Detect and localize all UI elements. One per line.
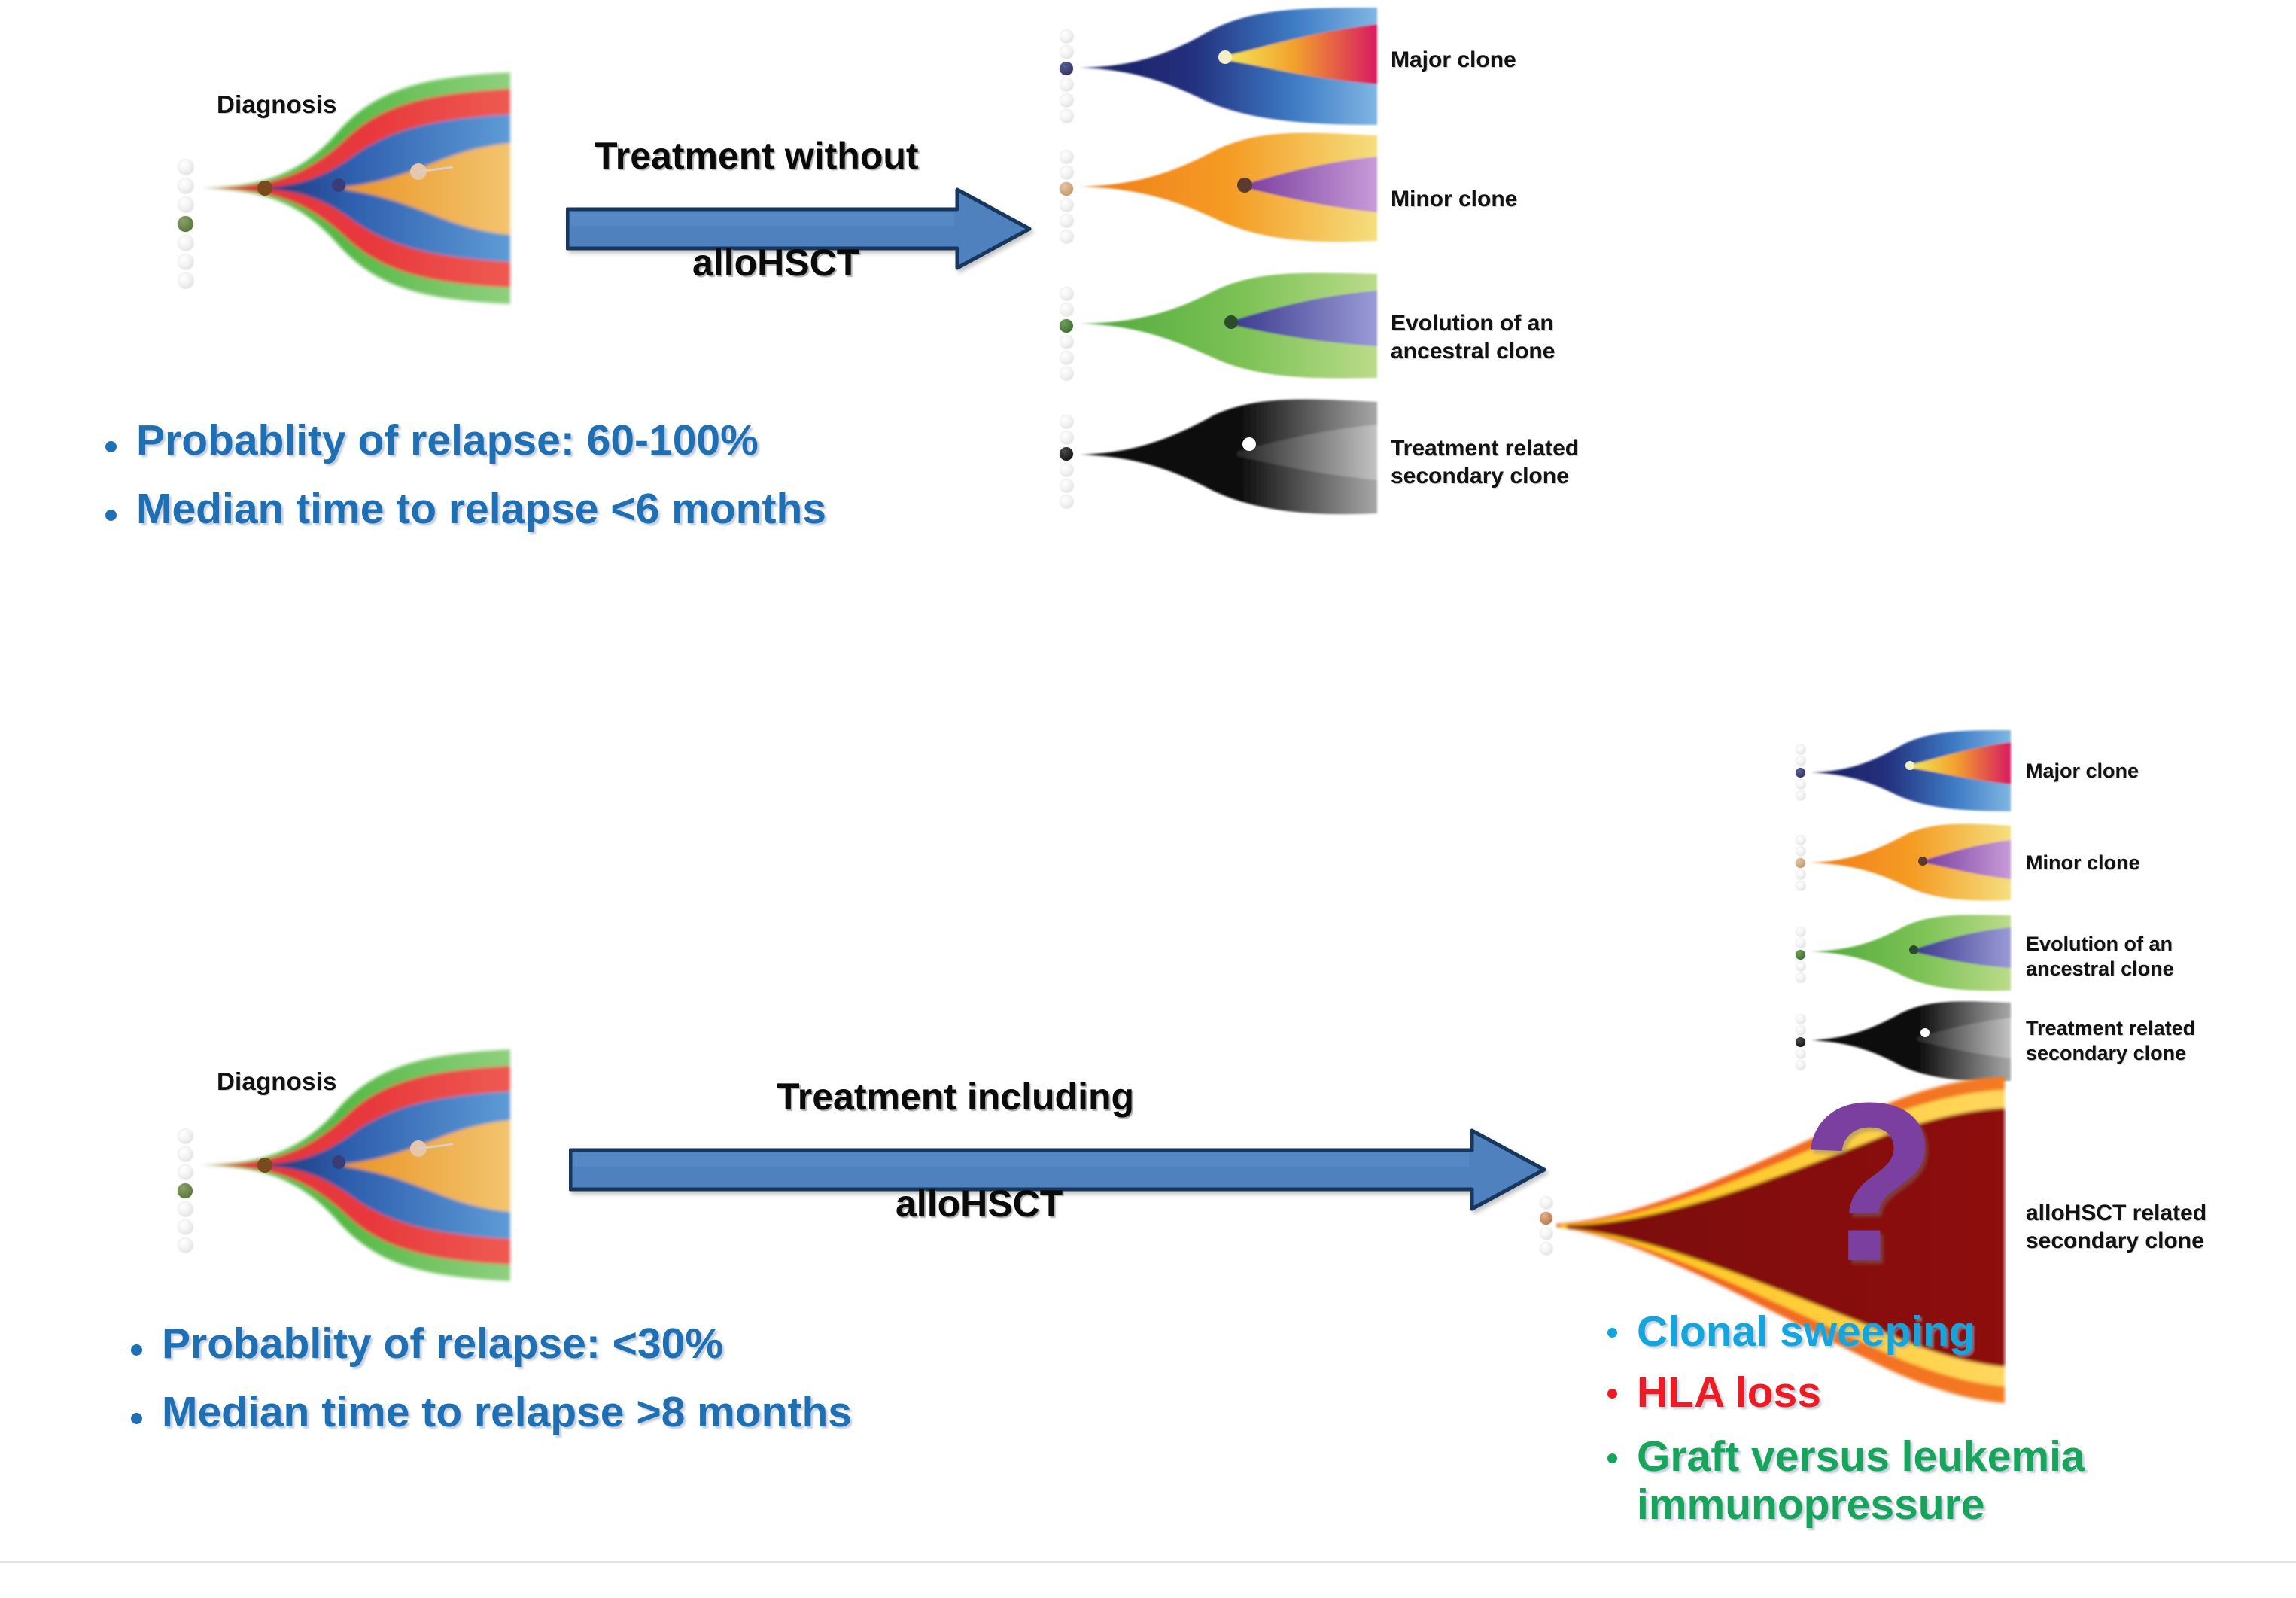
origin-chain-ancestral-top: [1060, 288, 1073, 380]
fishplot-ancestral-bottom: [1809, 912, 2012, 994]
bullet-marker: [105, 510, 117, 521]
origin-chain-major-bottom: [1796, 745, 1805, 800]
clone-label-trsecondary-top: Treatment related secondary clone: [1391, 435, 1579, 490]
origin-chain-major-top: [1060, 30, 1073, 123]
bullet-list-top: Probablity of relapse: 60-100% Median ti…: [105, 415, 826, 535]
origin-chain-minor-top: [1060, 151, 1073, 243]
bullet-marker: [105, 441, 117, 452]
bullet-list-bottom-left: Probablity of relapse: <30% Median time …: [131, 1319, 852, 1438]
origin-chain-diagnosis-bottom: [178, 1129, 193, 1253]
bullet-item: Median time to relapse <6 months: [105, 484, 826, 534]
origin-chain-trsecondary-top: [1060, 415, 1073, 508]
question-mark-glyph: ?: [1800, 1055, 1938, 1308]
diagnosis-label-bottom: Diagnosis: [217, 1067, 337, 1096]
diagnosis-label-top: Diagnosis: [217, 90, 337, 119]
bullet-label: Median time to relapse >8 months: [162, 1387, 852, 1438]
bullet-label: Clonal sweeping: [1637, 1307, 1975, 1357]
treatment-arrow-top-line1: Treatment without: [595, 134, 919, 178]
bullet-item: Probablity of relapse: <30%: [131, 1319, 852, 1369]
treatment-arrow-bottom-line1: Treatment including: [777, 1075, 1134, 1119]
bullet-marker: [131, 1344, 142, 1356]
question-mark-icon: ?: [1800, 1069, 1938, 1295]
fishplot-trsecondary-top: [1078, 397, 1379, 518]
treatment-arrow-bottom-line2: alloHSCT: [896, 1182, 1063, 1225]
bullet-item: Graft versus leukemia immunopressure: [1607, 1432, 2285, 1530]
clone-label-allohsct-secondary: alloHSCT related secondary clone: [2026, 1200, 2206, 1255]
bullet-item: Median time to relapse >8 months: [131, 1387, 852, 1438]
clone-label-minor-top: Minor clone: [1391, 186, 1517, 214]
bullet-list-bottom-right: Clonal sweeping HLA loss Graft versus le…: [1607, 1307, 2285, 1530]
bullet-item: HLA loss: [1607, 1368, 2285, 1418]
fishplot-minor-bottom: [1809, 820, 2012, 905]
bullet-marker: [1607, 1389, 1617, 1399]
bullet-label: Graft versus leukemia immunopressure: [1637, 1432, 2261, 1530]
bullet-item: Clonal sweeping: [1607, 1307, 2285, 1357]
bullet-marker: [1607, 1453, 1617, 1463]
clone-label-major-bottom: Major clone: [2026, 759, 2139, 784]
fishplot-ancestral-top: [1078, 269, 1379, 382]
fishplot-major-top: [1078, 6, 1379, 126]
fishplot-minor-top: [1078, 128, 1379, 248]
clone-label-minor-bottom: Minor clone: [2026, 851, 2140, 875]
origin-chain-minor-bottom: [1796, 836, 1805, 890]
bullet-label: Median time to relapse <6 months: [136, 484, 826, 534]
origin-chain-diagnosis-top: [178, 160, 193, 288]
treatment-arrow-top-line2: alloHSCT: [692, 241, 859, 285]
bullet-item: Probablity of relapse: 60-100%: [105, 415, 826, 466]
bullet-marker: [1607, 1328, 1617, 1338]
clone-label-ancestral-top: Evolution of an ancestral clone: [1391, 310, 1555, 365]
footer-divider: [0, 1561, 2296, 1563]
bullet-marker: [131, 1413, 142, 1424]
bullet-label: HLA loss: [1637, 1368, 1821, 1418]
clone-label-ancestral-bottom: Evolution of an ancestral clone: [2026, 932, 2174, 982]
bullet-label: Probablity of relapse: 60-100%: [136, 415, 759, 466]
slide-canvas: Diagnosis Treatment without alloHSCT Maj…: [0, 0, 2296, 1598]
fishplot-major-bottom: [1809, 729, 2012, 813]
origin-chain-ancestral-bottom: [1796, 927, 1805, 982]
clone-label-major-top: Major clone: [1391, 47, 1516, 75]
origin-chain-allohsct-clone: [1540, 1197, 1552, 1255]
bullet-label: Probablity of relapse: <30%: [162, 1319, 723, 1369]
clone-label-trsecondary-bottom: Treatment related secondary clone: [2026, 1016, 2195, 1066]
